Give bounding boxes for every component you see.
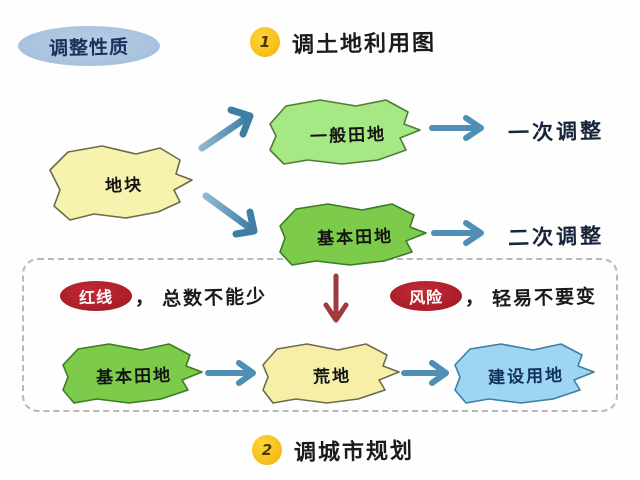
arrow-basic-to-second-adjustment	[434, 223, 481, 243]
title-badge-label: 调整性质	[49, 32, 130, 61]
construction-land-shape-icon	[448, 340, 604, 408]
section-heading-1: 1 调土地利用图	[250, 26, 436, 58]
warning-risk: 风险 ， 轻易不要变	[390, 281, 597, 311]
diagram-canvas: 调整性质 1 调土地利用图 2 调城市规划 地块 一般田地 基本田地 一次调整 …	[0, 0, 640, 480]
node-parcel: 地块	[40, 140, 208, 226]
redline-badge: 红线	[60, 281, 132, 311]
node-wasteland: 荒地	[256, 340, 408, 408]
section-label-1: 调土地利用图	[292, 25, 437, 60]
basic-farmland-shape-icon	[272, 200, 438, 270]
risk-badge: 风险	[390, 281, 462, 311]
redline-badge-label: 红线	[79, 283, 114, 308]
outcome-second-adjustment: 二次调整	[508, 220, 605, 253]
arrow-parcel-to-basic-farmland	[206, 196, 254, 234]
general-farmland-shape-icon	[262, 96, 434, 170]
node-construction-land: 建设用地	[448, 340, 604, 408]
node-basic-farmland-2: 基本田地	[56, 340, 212, 408]
section-heading-2: 2 调城市规划	[252, 434, 414, 466]
risk-comma: ，	[465, 283, 484, 310]
risk-note: 轻易不要变	[492, 281, 598, 311]
warning-redline: 红线 ， 总数不能少	[60, 281, 267, 311]
arrow-parcel-to-general-farmland	[202, 110, 250, 148]
title-badge: 调整性质	[18, 26, 160, 66]
basic-farmland-2-shape-icon	[56, 340, 212, 408]
node-basic-farmland: 基本田地	[272, 200, 438, 270]
parcel-shape-icon	[40, 140, 208, 226]
node-general-farmland: 一般田地	[262, 96, 434, 170]
section-label-2: 调城市规划	[294, 433, 415, 467]
redline-note: 总数不能少	[162, 281, 268, 311]
risk-badge-label: 风险	[409, 283, 444, 308]
arrow-general-to-first-adjustment	[432, 118, 481, 138]
redline-comma: ，	[135, 283, 154, 310]
section-number-1: 1	[250, 27, 280, 57]
outcome-first-adjustment: 一次调整	[508, 115, 605, 148]
wasteland-shape-icon	[256, 340, 408, 408]
section-number-2: 2	[252, 435, 282, 465]
